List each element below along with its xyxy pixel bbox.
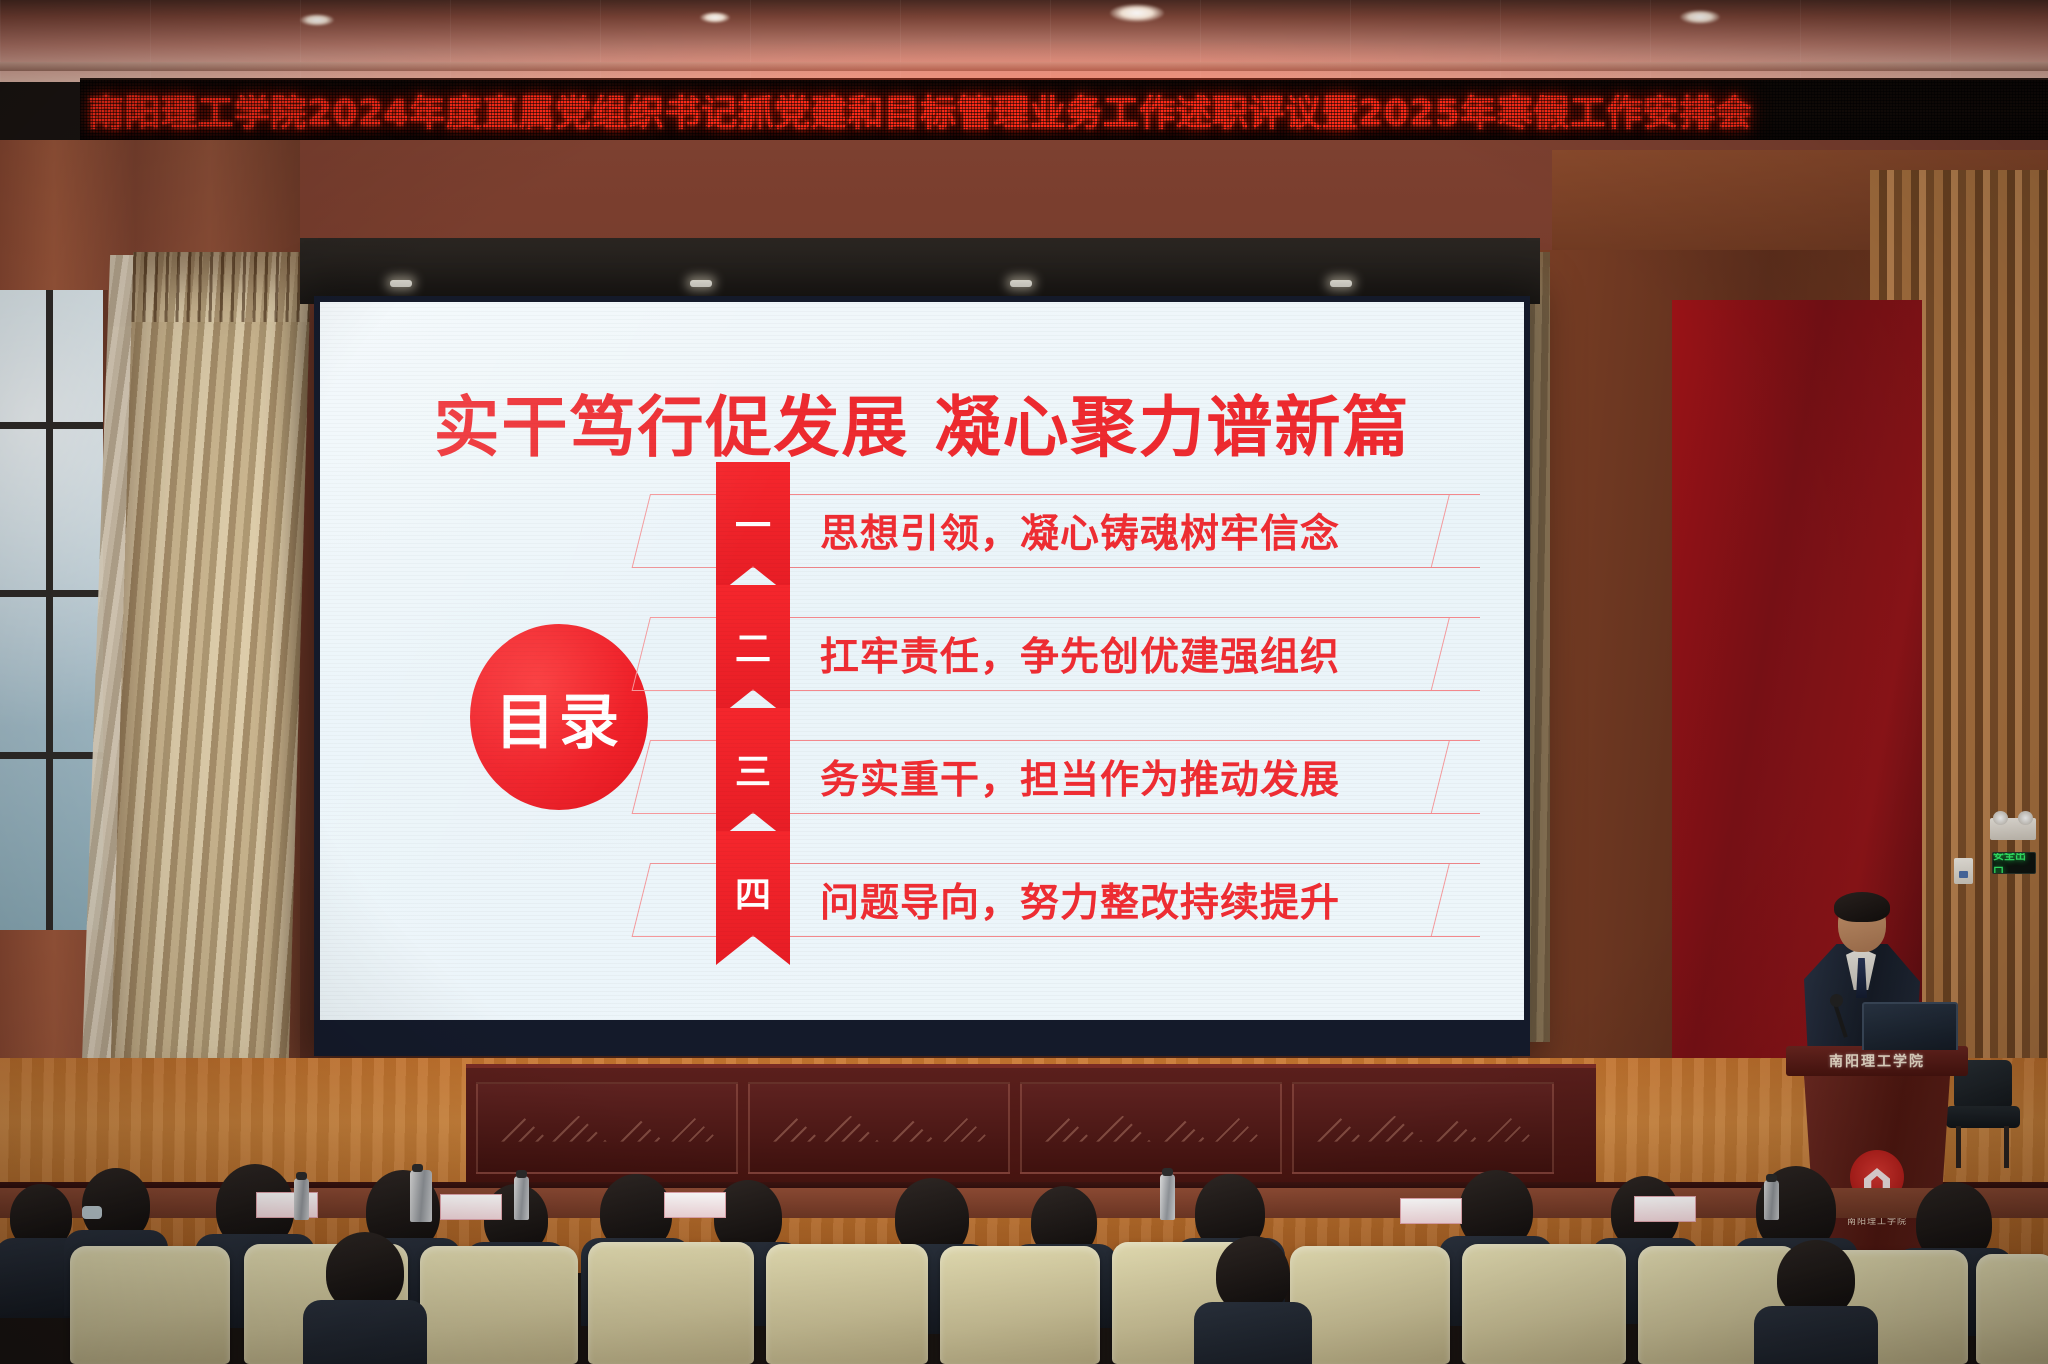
- window-mullion: [46, 290, 53, 930]
- shroud-spotlight: [1010, 280, 1032, 287]
- toc-item-ribbon: 一: [716, 462, 790, 596]
- skirt-zigzag-inlay: [1037, 1116, 1264, 1142]
- shroud-spotlight: [1330, 280, 1352, 287]
- toc-item[interactable]: 二 扛牢责任，争先创优建强组织: [650, 595, 1496, 718]
- desk-name-card: [664, 1192, 726, 1218]
- thermos-bottle: [1764, 1180, 1779, 1220]
- exit-sign: 安全出口: [1992, 852, 2036, 874]
- audience-area: [0, 1188, 2048, 1364]
- podium-nameplate: 南阳理工学院: [1786, 1046, 1968, 1076]
- auditorium-seat: [940, 1246, 1100, 1364]
- ceiling-downlight: [700, 12, 730, 23]
- toc-item[interactable]: 一 思想引领，凝心铸魂树牢信念: [650, 472, 1496, 595]
- shroud-spotlight: [390, 280, 412, 287]
- curtain-pleats: [131, 252, 311, 322]
- skirt-panel: [748, 1082, 1010, 1174]
- desk-name-card: [440, 1194, 502, 1220]
- auditorium-seat: [70, 1246, 230, 1364]
- person-torso: [1194, 1302, 1312, 1364]
- podium-nameplate-text: 南阳理工学院: [1829, 1051, 1925, 1071]
- led-scrolling-banner: 南阳理工学院2024年度直属党组织书记抓党建和目标管理业务工作述职评议暨2025…: [80, 78, 2048, 140]
- toc-item-ribbon: 四: [716, 831, 790, 965]
- skirt-panel: [476, 1082, 738, 1174]
- ceiling-downlight: [1680, 10, 1720, 24]
- toc-item-text: 务实重干，担当作为推动发展: [820, 740, 1340, 814]
- laptop-on-podium[interactable]: [1862, 1002, 1958, 1050]
- window-mullion: [0, 422, 103, 429]
- face-mask: [82, 1206, 102, 1219]
- led-banner-text: 南阳理工学院2024年度直属党组织书记抓党建和目标管理业务工作述职评议暨2025…: [88, 84, 1752, 136]
- conference-hall-photo: 南阳理工学院2024年度直属党组织书记抓党建和目标管理业务工作述职评议暨2025…: [0, 0, 2048, 1364]
- skirt-zigzag-inlay: [765, 1116, 992, 1142]
- presentation-slide[interactable]: 实干笃行促发展 凝心聚力谱新篇 目录 一 思想引领，凝心铸魂树牢信念 二 扛牢责…: [320, 302, 1524, 1020]
- toc-item-numeral: 四: [735, 866, 771, 918]
- auditorium-seat: [1462, 1244, 1626, 1364]
- toc-item-ribbon: 三: [716, 708, 790, 842]
- stage-curtain-left: [111, 252, 312, 1067]
- auditorium-seat: [420, 1246, 578, 1364]
- light-switch[interactable]: [1954, 858, 1973, 884]
- slide-title: 实干笃行促发展 凝心聚力谱新篇: [320, 374, 1524, 470]
- auditorium-seat: [1290, 1246, 1450, 1364]
- stage-skirt: [466, 1064, 1596, 1186]
- auditorium-seat: [766, 1244, 928, 1364]
- window-mullion: [0, 590, 103, 597]
- toc-item[interactable]: 四 问题导向，努力整改持续提升: [650, 841, 1496, 964]
- window-mullion: [0, 752, 103, 759]
- thermos-bottle: [410, 1170, 432, 1222]
- ceiling-beam: [0, 62, 2048, 71]
- audience-member-front: [1760, 1240, 1872, 1364]
- shroud-spotlight: [690, 280, 712, 287]
- person-torso: [1754, 1306, 1878, 1364]
- ceiling-downlight: [300, 14, 334, 26]
- skirt-panel: [1020, 1082, 1282, 1174]
- ceiling: [0, 0, 2048, 82]
- toc-item-numeral: 二: [735, 620, 771, 672]
- auditorium-seat: [1976, 1254, 2048, 1364]
- toc-item-text: 问题导向，努力整改持续提升: [820, 863, 1340, 937]
- skirt-panel: [1292, 1082, 1554, 1174]
- thermos-bottle: [294, 1178, 309, 1220]
- microphone-head-icon: [1830, 994, 1843, 1007]
- thermos-bottle: [514, 1176, 529, 1220]
- skirt-zigzag-inlay: [493, 1116, 720, 1142]
- skirt-zigzag-inlay: [1309, 1116, 1536, 1142]
- audience-member-front: [1200, 1236, 1306, 1364]
- chair-leg: [2004, 1126, 2009, 1168]
- toc-item[interactable]: 三 务实重干，担当作为推动发展: [650, 718, 1496, 841]
- screen-shroud: [300, 238, 1540, 304]
- ceiling-downlight: [1110, 4, 1164, 22]
- speaker-hair: [1834, 892, 1890, 922]
- audience-member-front: [310, 1232, 420, 1364]
- toc-item-text: 思想引领，凝心铸魂树牢信念: [820, 494, 1340, 568]
- toc-list: 一 思想引领，凝心铸魂树牢信念 二 扛牢责任，争先创优建强组织 三 务实重干，担…: [650, 472, 1496, 964]
- toc-badge: 目录: [470, 624, 648, 810]
- emergency-light-icon: [1990, 818, 2036, 840]
- toc-item-ribbon: 二: [716, 585, 790, 719]
- person-torso: [303, 1300, 427, 1364]
- toc-item-text: 扛牢责任，争先创优建强组织: [820, 617, 1340, 691]
- auditorium-seat: [588, 1242, 754, 1364]
- desk-name-card: [1400, 1198, 1462, 1224]
- desk-name-card: [1634, 1196, 1696, 1222]
- thermos-bottle: [1160, 1174, 1175, 1220]
- exit-sign-text: 安全出口: [1993, 852, 2035, 874]
- toc-item-numeral: 三: [735, 743, 771, 795]
- toc-item-numeral: 一: [735, 497, 771, 549]
- toc-badge-label: 目录: [495, 674, 623, 761]
